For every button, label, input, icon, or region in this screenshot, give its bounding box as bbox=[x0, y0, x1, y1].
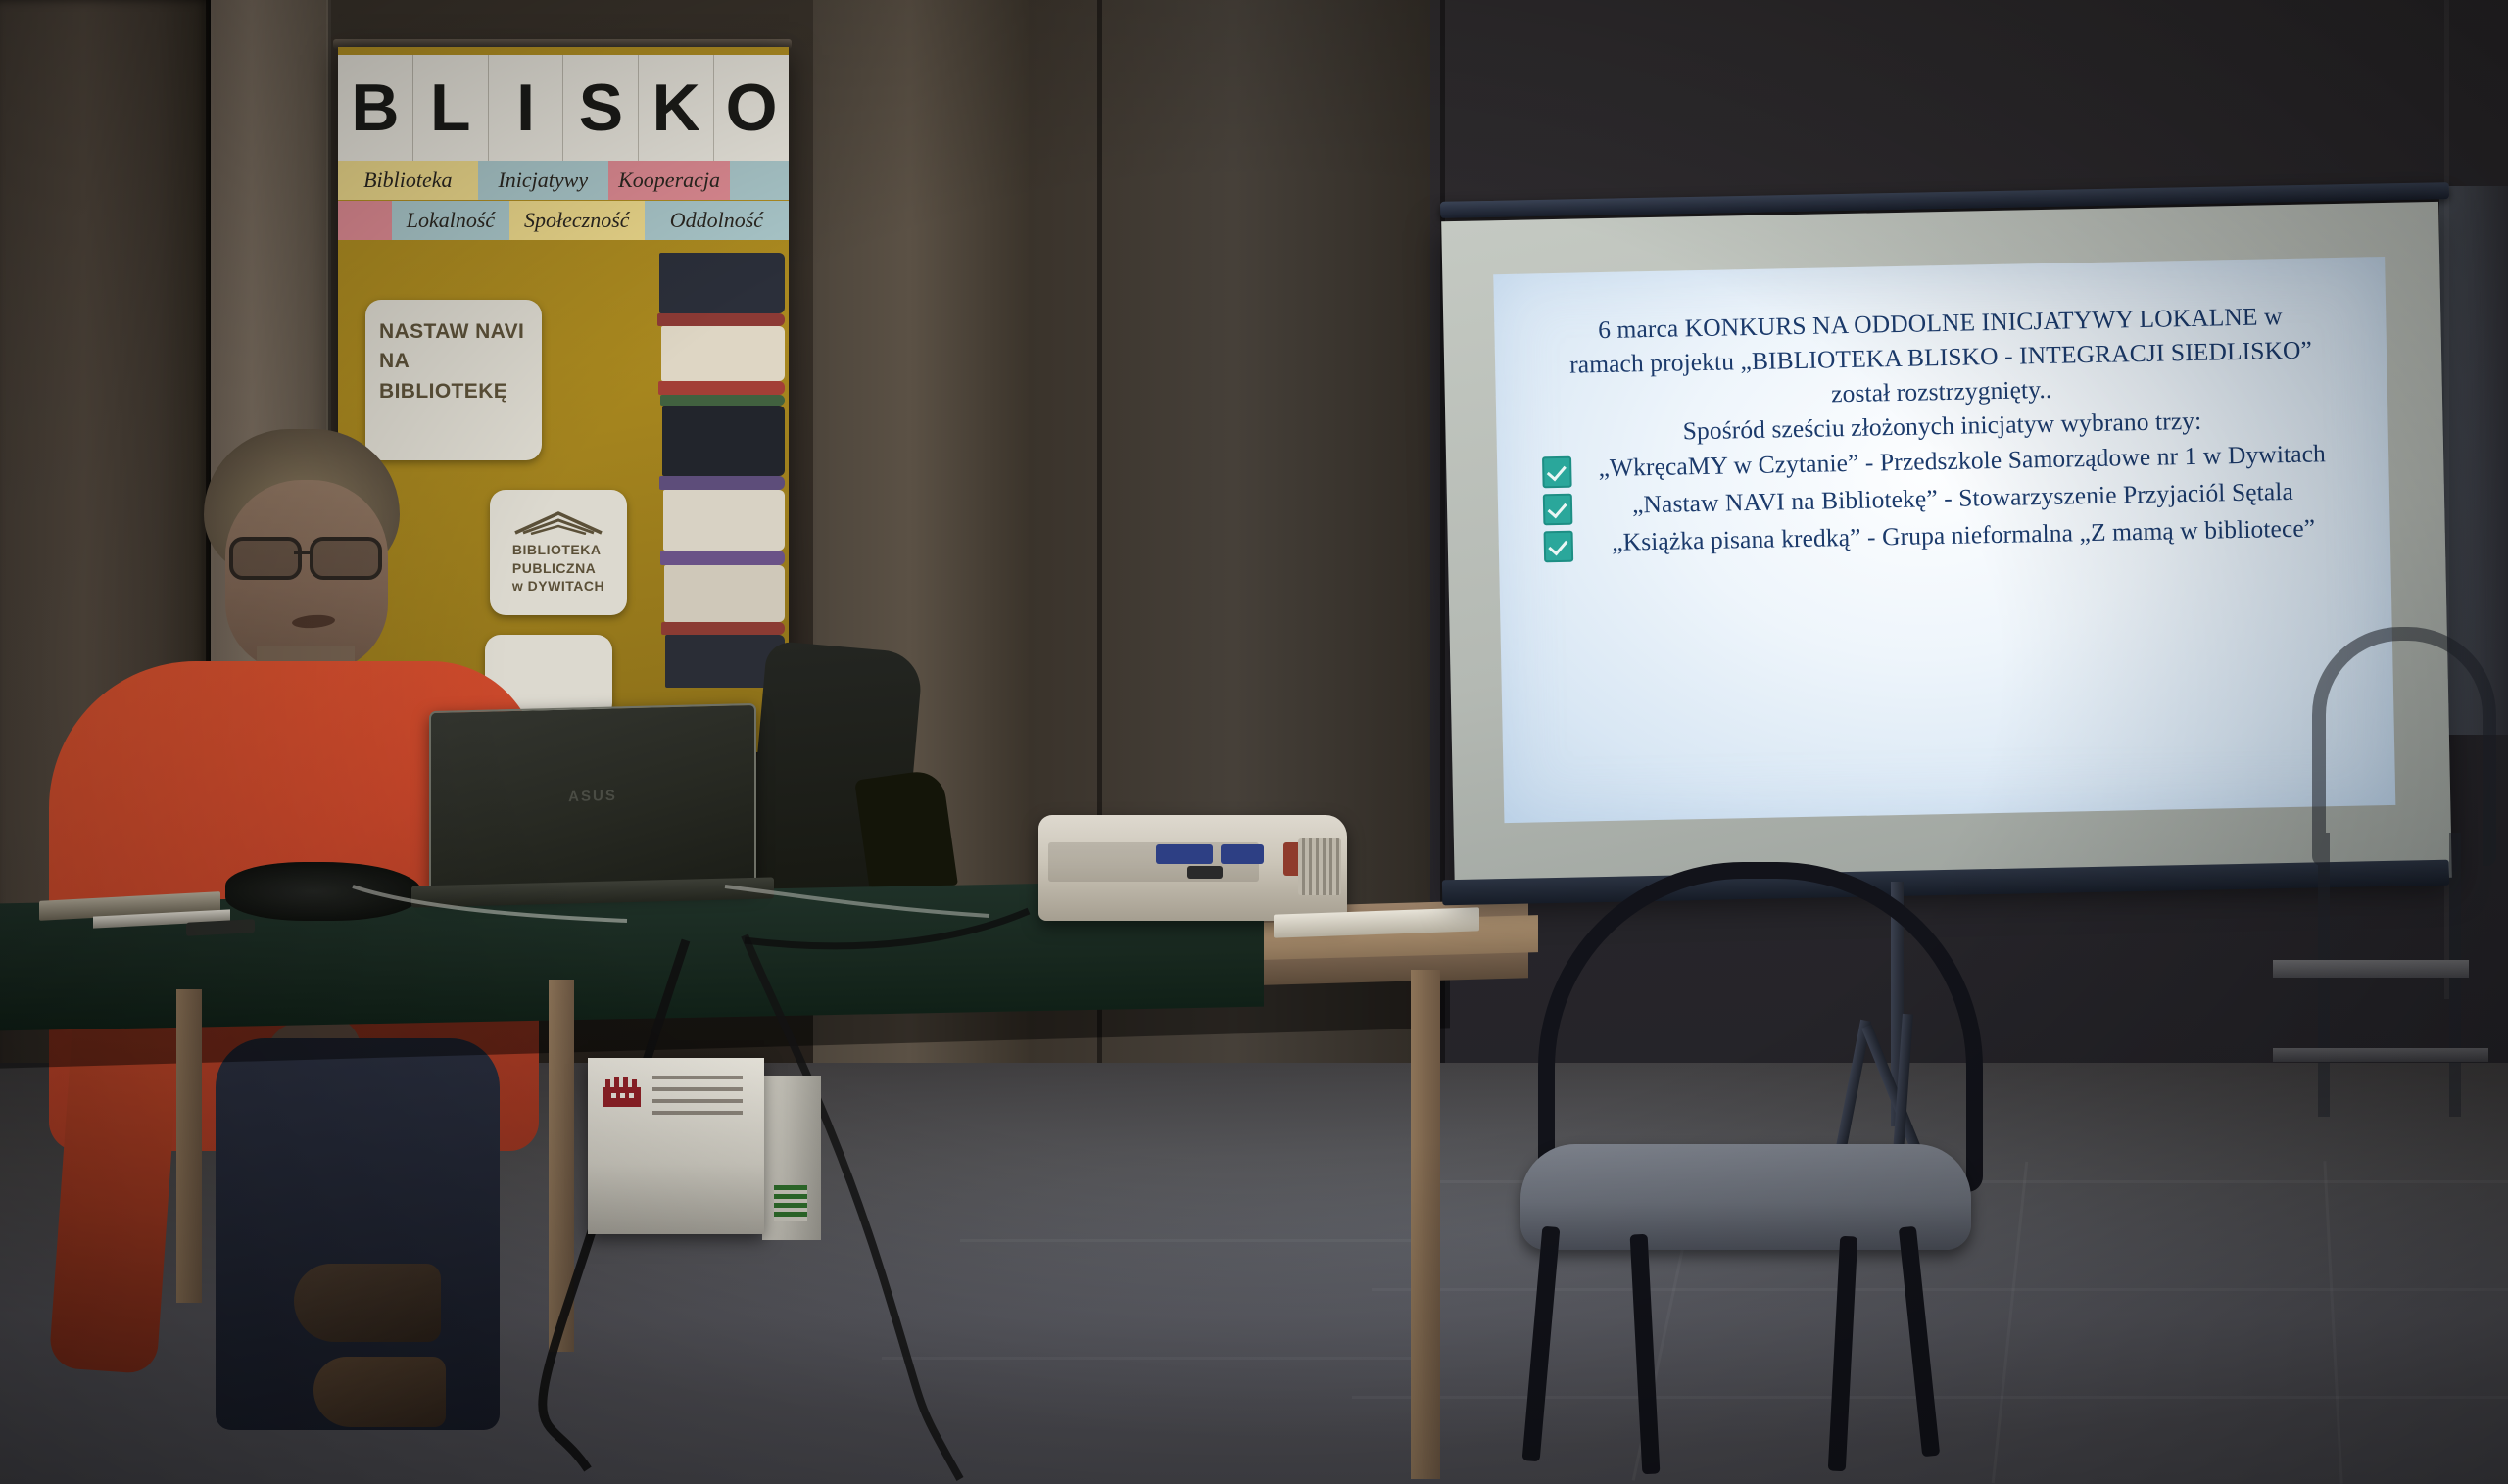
checkbox-checked-icon bbox=[1542, 455, 1572, 488]
checkbox-checked-icon bbox=[1544, 530, 1574, 562]
checkbox-checked-icon bbox=[1543, 493, 1573, 525]
chair-leg bbox=[1828, 1236, 1858, 1472]
chair-leg bbox=[1522, 1226, 1561, 1462]
chair-leg bbox=[1630, 1234, 1661, 1475]
presentation-room-photo: B L I S K O Biblioteka Inicjatywy Kooper… bbox=[0, 0, 2508, 1484]
stacked-chair-background bbox=[2292, 627, 2488, 1117]
chair-backrest bbox=[1538, 862, 1983, 1192]
wall-ledge-lower bbox=[2273, 1048, 2488, 1062]
rollup-banner-base bbox=[588, 1058, 764, 1234]
empty-chair[interactable] bbox=[1489, 862, 2018, 1469]
rollup-green-stripe bbox=[774, 1185, 807, 1221]
projected-slide: 6 marca KONKURS NA ODDOLNE INICJATYWY LO… bbox=[1493, 257, 2395, 823]
stacked-chair-back bbox=[2312, 627, 2496, 866]
crest-logo-icon bbox=[600, 1074, 645, 1111]
wall-ledge bbox=[2273, 960, 2469, 978]
chair-leg bbox=[1899, 1226, 1940, 1458]
rollup-text-block bbox=[652, 1076, 743, 1115]
